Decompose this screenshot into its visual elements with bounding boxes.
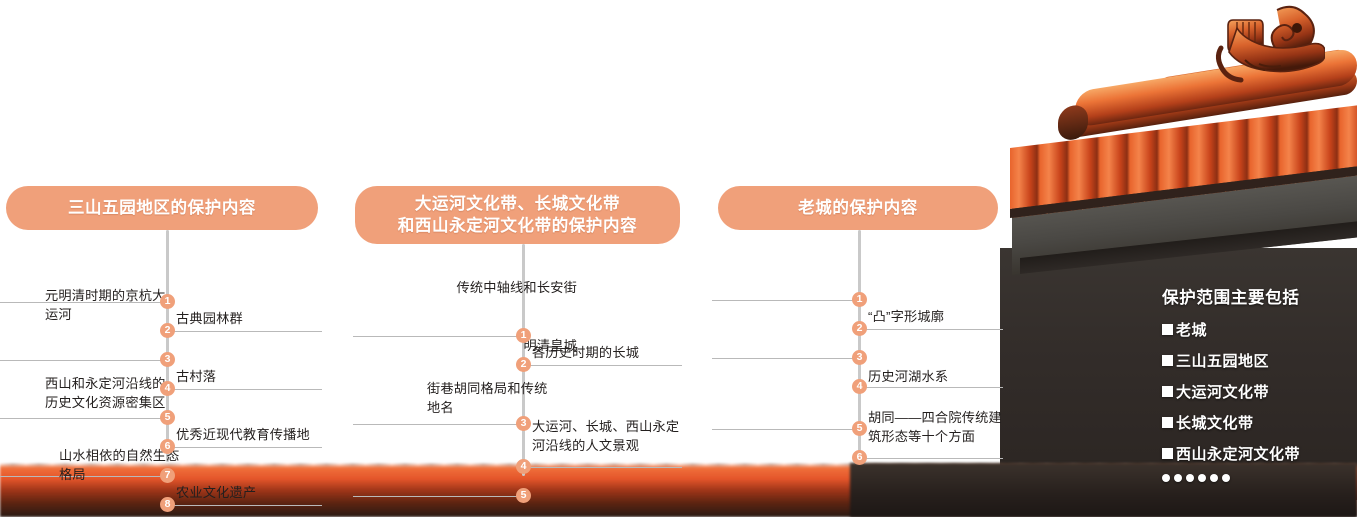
roof-ridge-cap-photo	[1058, 103, 1088, 142]
item-badge[interactable]: 4	[516, 459, 531, 474]
column-title-pill: 三山五园地区的保护内容	[6, 186, 318, 230]
dot-icon	[1162, 474, 1170, 482]
roof-ridge-beam-photo	[1075, 47, 1357, 128]
dot-separator	[1162, 474, 1357, 482]
item-rule	[862, 458, 1003, 459]
protection-scope-panel: 保护范围主要包括 老城 三山五园地区 大运河文化带 长城文化带 西山永定河文化带	[1162, 284, 1357, 482]
roof-eave-shadow-photo	[1020, 221, 1357, 274]
item-label: 古村落	[176, 367, 336, 386]
item-rule	[170, 331, 322, 332]
list-item: 长城文化带	[1162, 412, 1357, 433]
item-label: 农业文化遗产	[176, 483, 336, 502]
dot-icon	[1198, 474, 1206, 482]
roof-ridge-lower-photo	[1060, 69, 1357, 140]
dot-icon	[1222, 474, 1230, 482]
item-label: 胡同——四合院传统建 筑形态等十个方面	[868, 408, 1028, 446]
list-item: 大运河文化带	[1162, 381, 1357, 402]
item-badge[interactable]: 4	[852, 379, 867, 394]
item-rule	[353, 496, 522, 497]
item-rule	[862, 387, 1003, 388]
item-badge[interactable]: 4	[160, 381, 175, 396]
list-item-label: 西山永定河文化带	[1176, 443, 1300, 464]
roof-tile-caps-photo	[1012, 136, 1357, 218]
item-badge[interactable]: 1	[852, 292, 867, 307]
column-three-hills-five-gardens: 三山五园地区的保护内容 1 山水景观格局 2 古典园林群 3 河湖渠闸水利调蓄体…	[6, 186, 318, 462]
item-rule	[862, 329, 1003, 330]
item-rule	[0, 360, 166, 361]
white-square-bullet-icon	[1162, 417, 1173, 428]
white-square-bullet-icon	[1162, 324, 1173, 335]
item-label: 优秀近现代教育传播地	[176, 425, 336, 444]
roof-tile-row-photo	[1010, 105, 1357, 218]
item-badge[interactable]: 3	[516, 416, 531, 431]
item-label: 历史河湖水系	[868, 367, 1018, 386]
item-badge[interactable]: 5	[160, 410, 175, 425]
item-badge[interactable]: 5	[516, 488, 531, 503]
dot-icon	[1210, 474, 1218, 482]
list-item-label: 三山五园地区	[1176, 350, 1269, 371]
column-title-pill: 老城的保护内容	[718, 186, 998, 230]
column-old-city: 老城的保护内容 1 传统中轴线和长安街 2 “凸”字形城廓 3 明清皇城 4 历…	[718, 186, 998, 462]
item-label: 明清皇城	[432, 336, 577, 355]
item-badge[interactable]: 2	[160, 323, 175, 338]
dot-icon	[1174, 474, 1182, 482]
list-item-label: 老城	[1176, 319, 1207, 340]
item-rule	[170, 505, 322, 506]
item-label: 西山和永定河沿线的 历史文化资源密集区	[45, 374, 197, 412]
item-rule	[0, 418, 166, 419]
item-label: 古典园林群	[176, 309, 336, 328]
item-rule	[712, 300, 858, 301]
white-square-bullet-icon	[1162, 448, 1173, 459]
panel-title: 保护范围主要包括	[1162, 284, 1357, 308]
item-badge[interactable]: 1	[160, 294, 175, 309]
item-label: 传统中轴线和长安街	[432, 278, 577, 297]
white-square-bullet-icon	[1162, 355, 1173, 366]
list-item: 西山永定河文化带	[1162, 443, 1357, 464]
list-item: 老城	[1162, 319, 1357, 340]
white-square-bullet-icon	[1162, 386, 1173, 397]
list-item: 三山五园地区	[1162, 350, 1357, 371]
item-rule	[526, 467, 682, 468]
roof-dragon-ornament-icon	[1185, 2, 1325, 112]
item-badge[interactable]: 6	[160, 439, 175, 454]
item-badge[interactable]: 2	[852, 321, 867, 336]
item-rule	[712, 358, 858, 359]
item-rule	[712, 429, 858, 430]
item-label: “凸”字形城廓	[868, 307, 1018, 326]
item-label: 大运河、长城、西山永定 河沿线的人文景观	[532, 417, 697, 455]
item-badge[interactable]: 6	[852, 450, 867, 465]
list-item-label: 大运河文化带	[1176, 381, 1269, 402]
roof-ridge-base-photo	[1160, 49, 1345, 120]
item-rule	[353, 424, 522, 425]
roof-eave-photo	[1012, 168, 1357, 275]
column-cultural-belts: 大运河文化带、长城文化带 和西山永定河文化带的保护内容 1 元明清时期的京杭大 …	[355, 186, 680, 476]
item-badge[interactable]: 7	[160, 468, 175, 483]
list-item-label: 长城文化带	[1176, 412, 1254, 433]
item-badge[interactable]: 1	[516, 328, 531, 343]
dot-icon	[1186, 474, 1194, 482]
column-title-pill: 大运河文化带、长城文化带 和西山永定河文化带的保护内容	[355, 186, 680, 244]
item-badge[interactable]: 3	[160, 352, 175, 367]
item-label: 元明清时期的京杭大 运河	[45, 286, 197, 324]
item-badge[interactable]: 8	[160, 497, 175, 512]
column-spine	[166, 230, 169, 462]
item-badge[interactable]: 2	[516, 357, 531, 372]
item-badge[interactable]: 5	[852, 421, 867, 436]
item-badge[interactable]: 3	[852, 350, 867, 365]
item-rule	[526, 365, 682, 366]
item-label: 街巷胡同格局和传统 地名	[427, 379, 577, 417]
